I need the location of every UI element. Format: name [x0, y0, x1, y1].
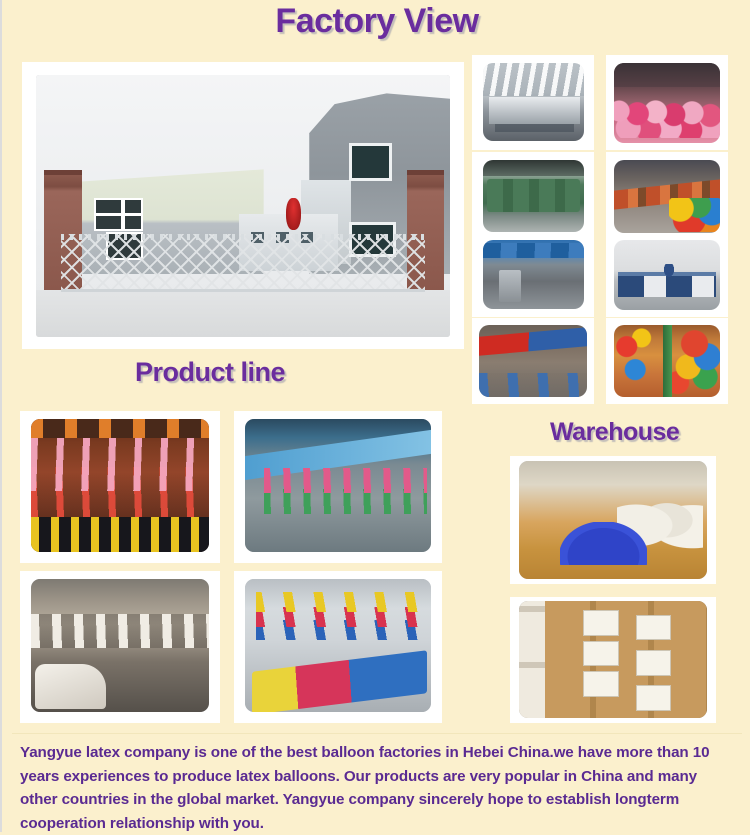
photo-green-dipping-machine: [483, 160, 584, 232]
photo-warehouse-blue-balloons: [519, 461, 707, 579]
section-title-product-line: Product line: [135, 357, 285, 388]
section-divider: [12, 733, 742, 734]
retractable-gate: [61, 234, 425, 292]
photo-production-hall: [483, 63, 584, 141]
photo-warehouse-cartons: [519, 601, 707, 718]
carton-label-a: [583, 610, 619, 635]
window-left-a: [94, 198, 123, 215]
overhead-rail: [31, 419, 209, 438]
page-title: Factory View: [2, 2, 750, 41]
red-lantern: [286, 198, 300, 229]
photo-retail-display: [614, 325, 720, 397]
photo-balloon-conveyor: [614, 63, 720, 143]
carton-label-d: [636, 615, 672, 640]
ground: [36, 290, 450, 337]
photo-factory-gate-exterior: [36, 75, 450, 337]
photo-white-forms-rail: [31, 579, 209, 712]
photo-sorting-shelf: [614, 160, 720, 233]
company-description: Yangyue latex company is one of the best…: [20, 741, 734, 835]
photo-blue-rack-balloons: [245, 419, 431, 552]
gate-scene: [36, 75, 450, 337]
carton-label-b: [583, 641, 619, 666]
photo-banner-workshop: [479, 325, 587, 397]
photo-blue-roof-hall: [483, 240, 584, 309]
window-left-c: [94, 214, 123, 231]
carton-label-e: [636, 650, 672, 675]
window-left-b: [123, 198, 144, 215]
section-title-warehouse: Warehouse: [550, 418, 679, 447]
carton-label-f: [636, 685, 672, 710]
photo-office: [614, 240, 720, 310]
window-left-d: [123, 214, 144, 231]
photo-dipping-colour-line: [245, 579, 431, 712]
gate-spikes: [61, 234, 425, 240]
carton-label-c: [583, 671, 619, 696]
window-right-upper: [349, 143, 392, 180]
photo-hanging-balloons: [31, 419, 209, 552]
factory-view-page: Factory View: [0, 0, 750, 832]
